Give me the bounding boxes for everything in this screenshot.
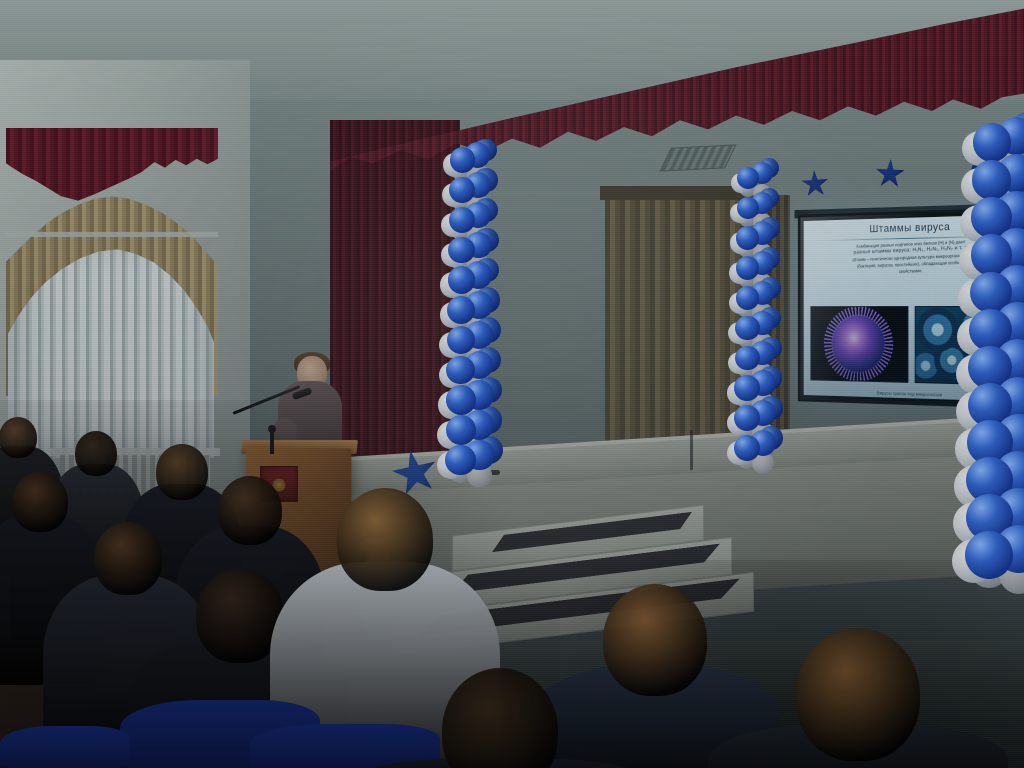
balloon — [446, 415, 476, 445]
audience-member-head — [337, 488, 433, 591]
balloon — [736, 256, 760, 280]
audience-member-head — [0, 417, 37, 458]
balloon — [734, 375, 759, 400]
blinds-rail — [6, 232, 218, 237]
mic-stand — [690, 430, 693, 470]
audience-member-head — [75, 431, 117, 476]
microphone-pole — [270, 428, 274, 454]
audience-member-head — [218, 476, 282, 545]
audience-member-head — [603, 584, 707, 696]
balloon — [448, 237, 475, 264]
balloon — [736, 226, 759, 249]
audience-jacket — [0, 726, 130, 768]
balloon — [965, 531, 1013, 579]
ceiling-air-vent — [659, 144, 736, 171]
balloon — [447, 296, 475, 324]
balloon — [449, 177, 475, 203]
balloon — [736, 286, 760, 310]
audience-member-head — [796, 628, 920, 761]
audience-member-head — [12, 472, 68, 532]
balloon — [448, 266, 475, 293]
balloon — [446, 385, 475, 414]
balloon — [735, 346, 760, 371]
balloon — [445, 445, 476, 476]
window — [6, 128, 218, 458]
virion-illustration — [832, 315, 886, 374]
balloon — [734, 405, 760, 431]
virus-particle-image — [810, 306, 908, 383]
audience-member-head — [94, 522, 162, 595]
balloon — [734, 435, 760, 461]
auditorium-photo: Штаммы вируса Комбинация разных подтипов… — [0, 0, 1024, 768]
balloon — [450, 147, 475, 172]
audience-member-head — [156, 444, 208, 500]
balloon — [449, 207, 475, 233]
balloon — [735, 316, 759, 340]
